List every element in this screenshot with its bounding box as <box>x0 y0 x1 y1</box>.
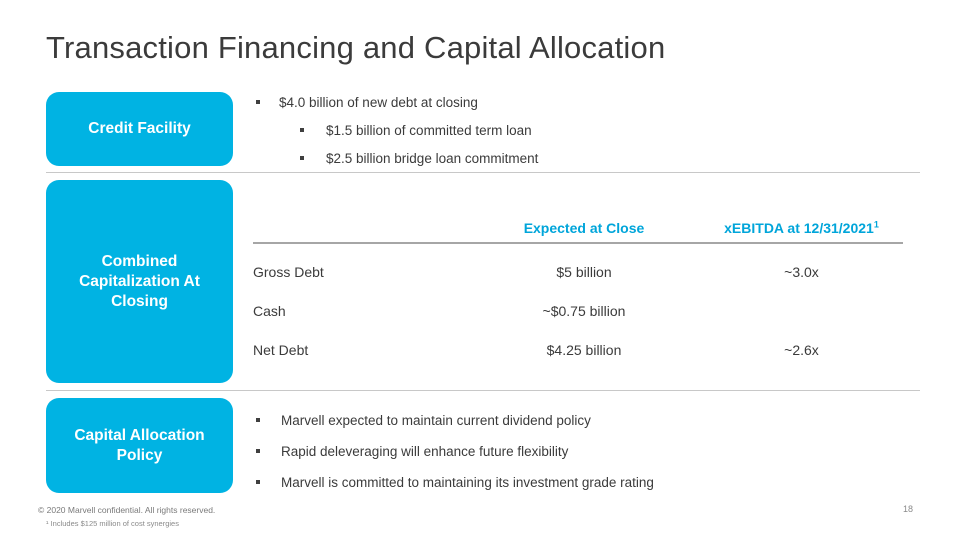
list-item: $4.0 billion of new debt at closing <box>256 94 538 112</box>
section-label-text: Capital Allocation Policy <box>54 426 225 466</box>
bullet-list-capital-allocation: Marvell expected to maintain current div… <box>256 412 654 505</box>
column-header-metric <box>253 214 468 243</box>
column-header-xebitda: xEBITDA at 12/31/20211 <box>700 214 903 243</box>
section-label-combined-capitalization[interactable]: Combined Capitalization At Closing <box>46 180 233 383</box>
list-item: $1.5 billion of committed term loan <box>256 122 538 140</box>
page-number: 18 <box>903 504 913 514</box>
list-item: Marvell expected to maintain current div… <box>256 412 654 430</box>
list-item-label: Marvell expected to maintain current div… <box>256 412 654 430</box>
section-label-text: Combined Capitalization At Closing <box>54 252 225 312</box>
bullet-square-icon <box>256 449 260 453</box>
bullet-square-icon <box>256 100 260 104</box>
list-item-label: Marvell is committed to maintaining its … <box>256 474 654 492</box>
column-header-xebitda-text: xEBITDA at 12/31/2021 <box>724 220 874 236</box>
bullet-list-credit-facility: $4.0 billion of new debt at closing $1.5… <box>256 94 538 178</box>
cell-expected-at-close: $5 billion <box>468 243 700 291</box>
list-item: $2.5 billion bridge loan commitment <box>256 150 538 168</box>
cell-xebitda: ~2.6x <box>700 330 903 369</box>
list-item-label: $2.5 billion bridge loan commitment <box>256 150 538 168</box>
table-header-row: Expected at Close xEBITDA at 12/31/20211 <box>253 214 903 243</box>
footer-copyright: © 2020 Marvell confidential. All rights … <box>38 505 215 515</box>
list-item-label: $1.5 billion of committed term loan <box>256 122 538 140</box>
list-item: Marvell is committed to maintaining its … <box>256 474 654 492</box>
cell-xebitda: ~3.0x <box>700 243 903 291</box>
footer-footnote: ¹ Includes $125 million of cost synergie… <box>46 519 179 528</box>
section-label-capital-allocation-policy[interactable]: Capital Allocation Policy <box>46 398 233 493</box>
table-row: Gross Debt $5 billion ~3.0x <box>253 243 903 291</box>
cell-metric: Gross Debt <box>253 243 468 291</box>
section-divider <box>46 390 920 391</box>
table-row: Cash ~$0.75 billion <box>253 291 903 330</box>
section-divider <box>46 172 920 173</box>
slide-canvas: { "slide": { "title": "Transaction Finan… <box>0 0 960 540</box>
bullet-square-icon <box>300 128 304 132</box>
list-item: Rapid deleveraging will enhance future f… <box>256 443 654 461</box>
bullet-square-icon <box>256 418 260 422</box>
table-header: Expected at Close xEBITDA at 12/31/20211 <box>253 214 903 243</box>
list-item-label: $4.0 billion of new debt at closing <box>256 94 538 112</box>
cell-metric: Cash <box>253 291 468 330</box>
column-header-expected-at-close: Expected at Close <box>468 214 700 243</box>
section-label-credit-facility[interactable]: Credit Facility <box>46 92 233 166</box>
bullet-square-icon <box>300 156 304 160</box>
cell-metric: Net Debt <box>253 330 468 369</box>
footnote-marker: 1 <box>874 219 879 229</box>
cell-expected-at-close: ~$0.75 billion <box>468 291 700 330</box>
page-title: Transaction Financing and Capital Alloca… <box>46 30 665 66</box>
section-label-text: Credit Facility <box>88 119 191 139</box>
list-item-label: Rapid deleveraging will enhance future f… <box>256 443 654 461</box>
cell-expected-at-close: $4.25 billion <box>468 330 700 369</box>
table-row: Net Debt $4.25 billion ~2.6x <box>253 330 903 369</box>
bullet-square-icon <box>256 480 260 484</box>
cell-xebitda <box>700 291 903 330</box>
table-body: Gross Debt $5 billion ~3.0x Cash ~$0.75 … <box>253 243 903 369</box>
capitalization-table: Expected at Close xEBITDA at 12/31/20211… <box>253 214 903 369</box>
